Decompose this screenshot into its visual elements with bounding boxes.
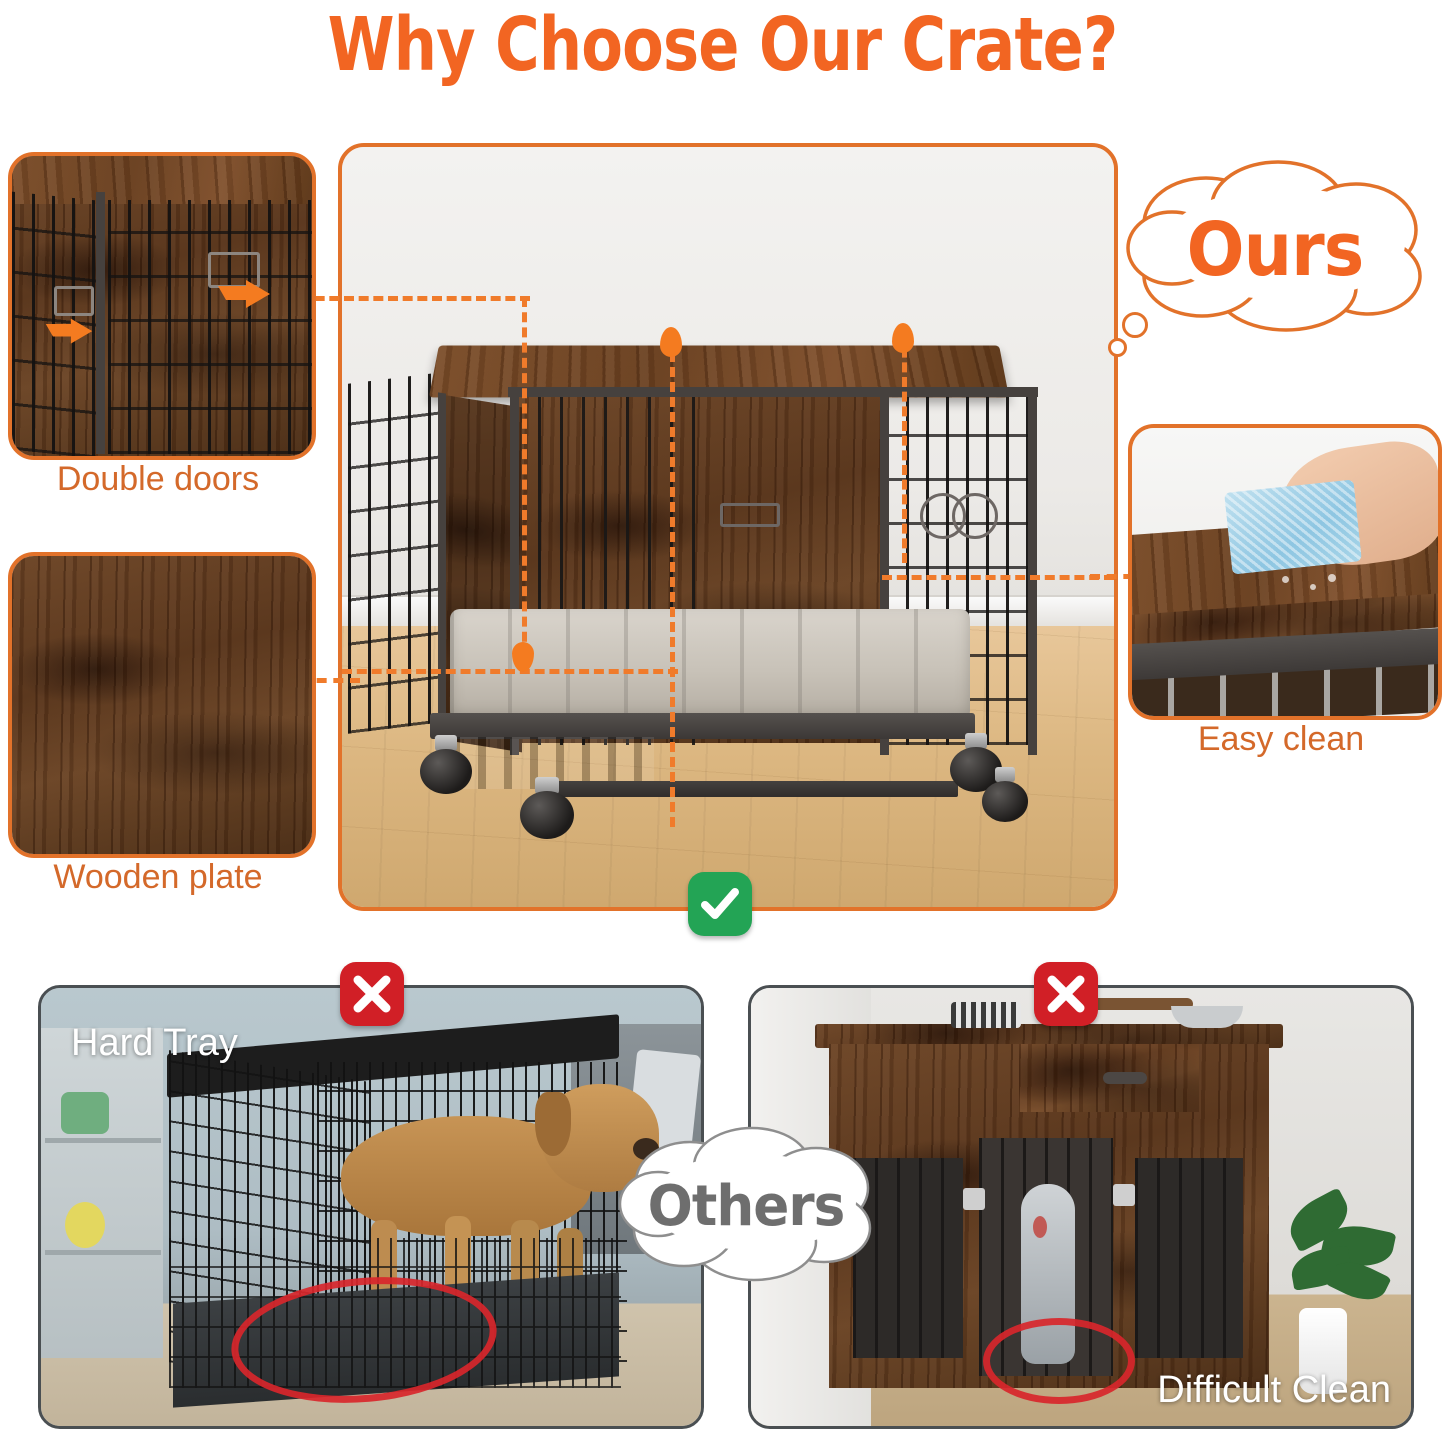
ours-label: Ours xyxy=(1123,152,1427,347)
water-droplet xyxy=(1282,576,1289,583)
marker-pin-surface xyxy=(892,323,914,353)
infographic-canvas: Why Choose Our Crate? xyxy=(0,0,1445,1436)
main-product-panel xyxy=(338,143,1118,911)
cross-badge-right xyxy=(1034,962,1098,1026)
caption-wooden-plate: Wooden plate xyxy=(8,858,308,897)
caster-wheel-rear-left xyxy=(420,735,472,793)
connector-easy-clean-horizontal xyxy=(882,575,1114,580)
front-door-mesh xyxy=(108,200,312,454)
cleaning-cloth xyxy=(1224,479,1362,574)
difficult-clean-label: Difficult Clean xyxy=(1157,1369,1391,1412)
shelf-board xyxy=(45,1138,161,1143)
metal-bowl xyxy=(1171,1006,1243,1028)
latch-loop-2-icon xyxy=(952,493,998,539)
dog-ear xyxy=(535,1092,571,1156)
verdict-check-badge xyxy=(688,872,752,936)
connector-wooden-plate-horizontal xyxy=(342,669,678,674)
frame-rail-top xyxy=(508,387,1038,397)
water-droplet-2 xyxy=(1310,584,1316,590)
caption-double-doors: Double doors xyxy=(8,460,308,499)
arrow-marker-side-icon xyxy=(44,318,94,346)
wooden-plate-swatch xyxy=(12,556,312,854)
dog-tongue xyxy=(1033,1216,1047,1238)
shelf-board-2 xyxy=(45,1250,161,1255)
easy-clean-photo xyxy=(1132,428,1438,716)
decor-flowers xyxy=(65,1202,105,1248)
connector-clean-vertical xyxy=(902,333,907,563)
frame-post-far-left xyxy=(438,392,446,753)
connector-double-doors-vertical xyxy=(522,297,527,657)
crate-base-rail xyxy=(430,713,975,739)
page-title: Why Choose Our Crate? xyxy=(130,2,1315,88)
frame-post-right xyxy=(1028,387,1037,755)
decor-plant-pot xyxy=(61,1092,109,1134)
double-doors-photo xyxy=(12,156,312,456)
folded-towels xyxy=(951,1002,1021,1028)
door-hinge-left xyxy=(963,1188,985,1210)
cross-badge-left xyxy=(340,962,404,1026)
main-product-photo xyxy=(342,147,1114,907)
comparison-panel-hard-tray: Hard Tray xyxy=(38,985,704,1429)
removable-tray xyxy=(538,781,958,797)
connector-to-double-doors xyxy=(300,296,530,301)
side-latch-icon xyxy=(54,286,94,316)
feature-panel-double-doors xyxy=(8,152,316,460)
feature-panel-wooden-plate xyxy=(8,552,316,858)
caption-easy-clean: Easy clean xyxy=(1128,720,1434,759)
caster-wheel-front-right xyxy=(982,767,1028,819)
cabinet-right-mesh-door xyxy=(1135,1158,1243,1358)
door-hinge-right xyxy=(1113,1184,1135,1206)
caster-wheel-front-left xyxy=(520,777,574,839)
door-divider-post xyxy=(96,192,105,454)
water-droplet-3 xyxy=(1328,574,1336,582)
red-ellipse-highlight-base xyxy=(983,1318,1135,1404)
ours-speech-bubble: Ours xyxy=(1110,152,1440,347)
drawer-handle xyxy=(1103,1072,1147,1084)
hard-tray-photo: Hard Tray xyxy=(41,988,701,1426)
feature-panel-easy-clean xyxy=(1128,424,1442,720)
background-shelf xyxy=(41,1028,163,1358)
hard-tray-label: Hard Tray xyxy=(71,1022,238,1065)
connector-wood-vertical xyxy=(670,337,675,827)
marker-pin-top xyxy=(660,327,682,357)
others-speech-bubble: Others xyxy=(612,1118,880,1294)
arrow-marker-front-icon xyxy=(216,280,272,310)
door-latch-icon xyxy=(720,503,780,527)
others-label: Others xyxy=(619,1118,874,1294)
